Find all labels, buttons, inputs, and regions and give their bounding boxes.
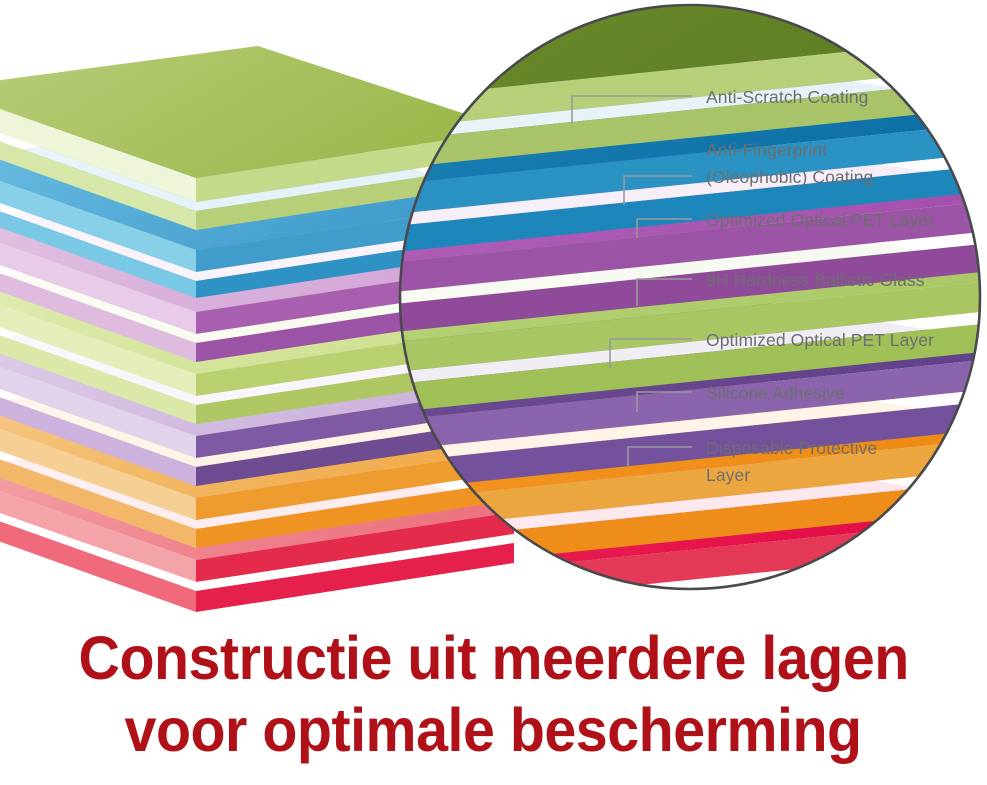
label-anti-fingerprint-coating-line1: Anti-Fingerprint: [706, 140, 827, 160]
label-anti-fingerprint-coating-line2: (Oleophobic) Coating: [706, 167, 873, 187]
caption-line-1: Constructie uit meerdere lagen: [78, 622, 908, 694]
caption-block: Constructie uit meerdere lagen voor opti…: [0, 622, 987, 785]
label-silicone-adhesive: Silicone Adhesive: [706, 383, 845, 403]
layer-diagram-page: Anti-Scratch Coating Anti-Fingerprint (O…: [0, 0, 987, 785]
label-disposable-protective-layer-line1: Disposable Protective: [706, 438, 877, 458]
exploded-layer-diagram: Anti-Scratch Coating Anti-Fingerprint (O…: [0, 0, 987, 620]
caption-line-2: voor optimale bescherming: [125, 694, 862, 766]
label-optimized-optical-pet-layer-upper: Optimized Optical PET Layer: [706, 210, 934, 230]
label-optimized-optical-pet-layer-lower: Optimized Optical PET Layer: [706, 330, 934, 350]
label-9h-hardness-ballistic-glass: 9H Hardness Ballistic Glass: [706, 270, 925, 290]
label-disposable-protective-layer-line2: Layer: [706, 465, 750, 485]
label-anti-scratch-coating: Anti-Scratch Coating: [706, 87, 869, 107]
